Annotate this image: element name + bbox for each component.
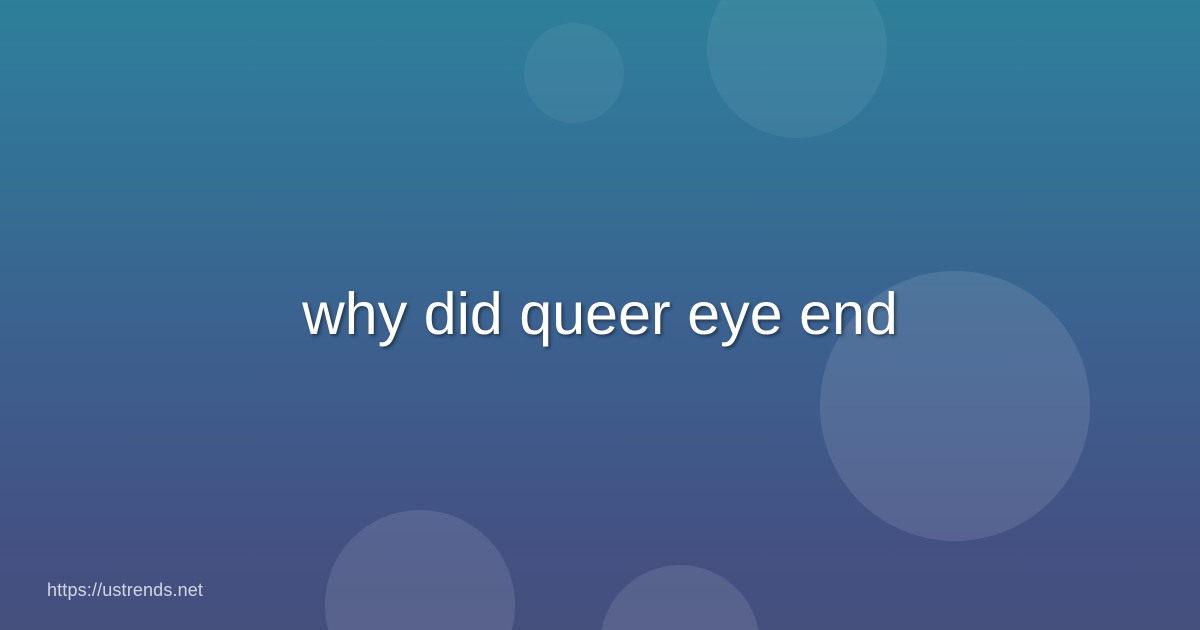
site-url-link[interactable]: https://ustrends.net [47, 580, 203, 601]
headline-container: why did queer eye end [0, 0, 1200, 630]
social-share-card: why did queer eye end https://ustrends.n… [0, 0, 1200, 630]
page-title: why did queer eye end [302, 280, 898, 350]
